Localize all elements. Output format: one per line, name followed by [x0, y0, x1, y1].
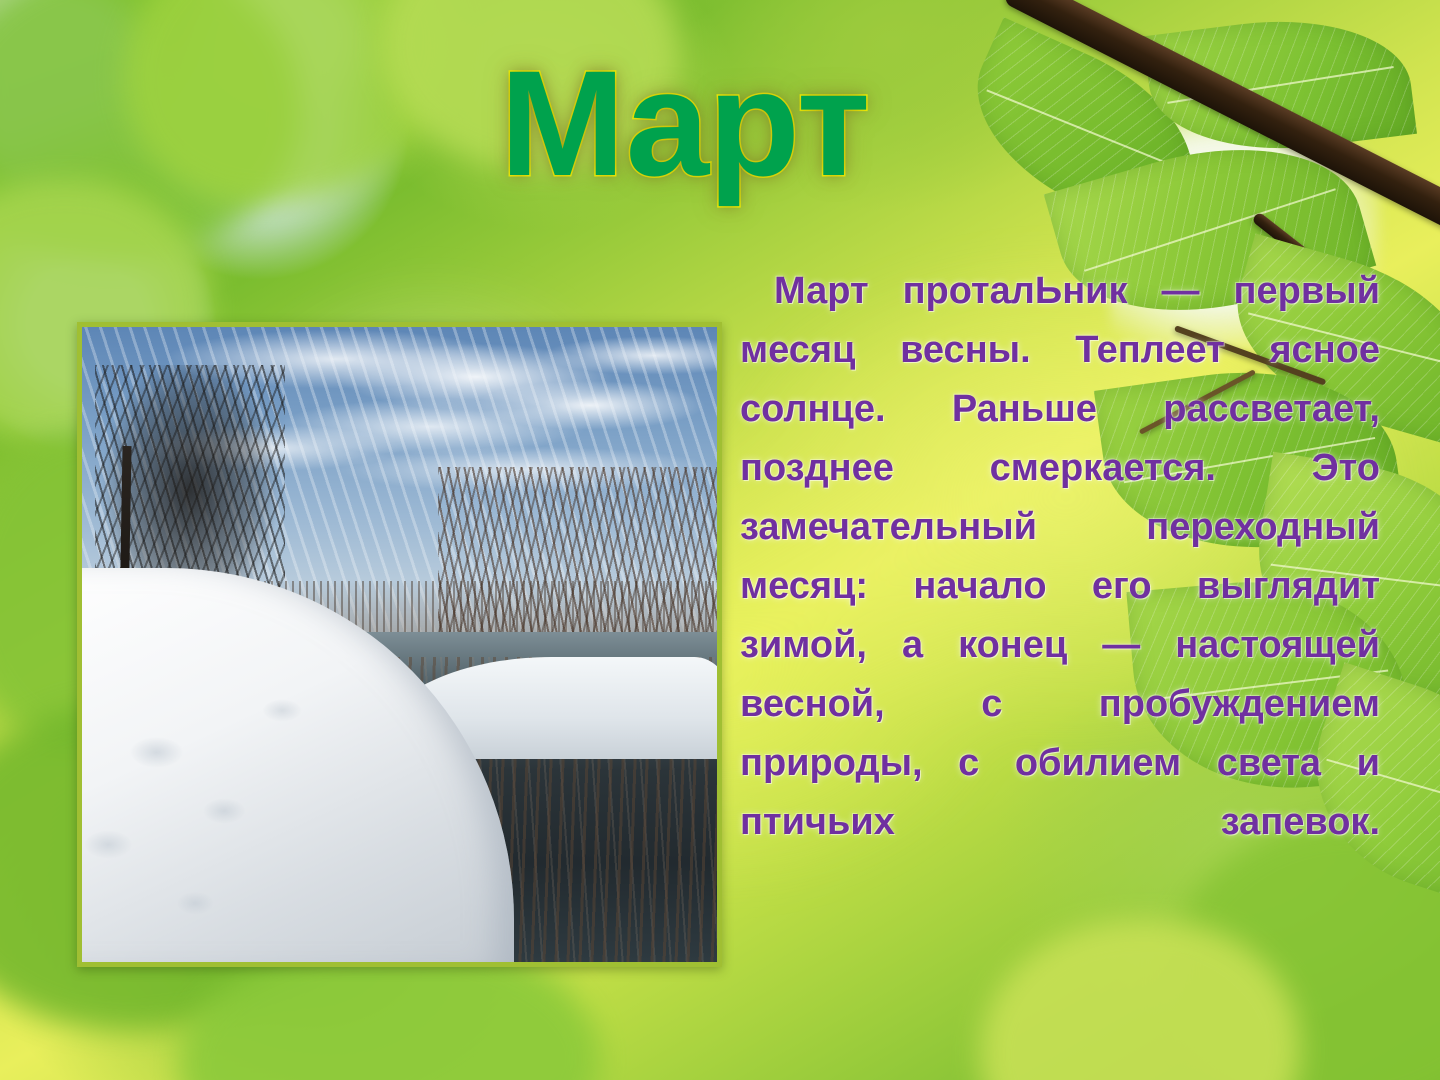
slide-body-text: Март проталЬник — первый месяц весны. Те…	[740, 262, 1380, 911]
slide-photo	[77, 322, 722, 967]
presentation-slide: Март Март проталЬник — первый месяц весн…	[0, 0, 1440, 1080]
photo-landscape-icon	[82, 327, 717, 962]
page-title: Март	[500, 48, 869, 198]
